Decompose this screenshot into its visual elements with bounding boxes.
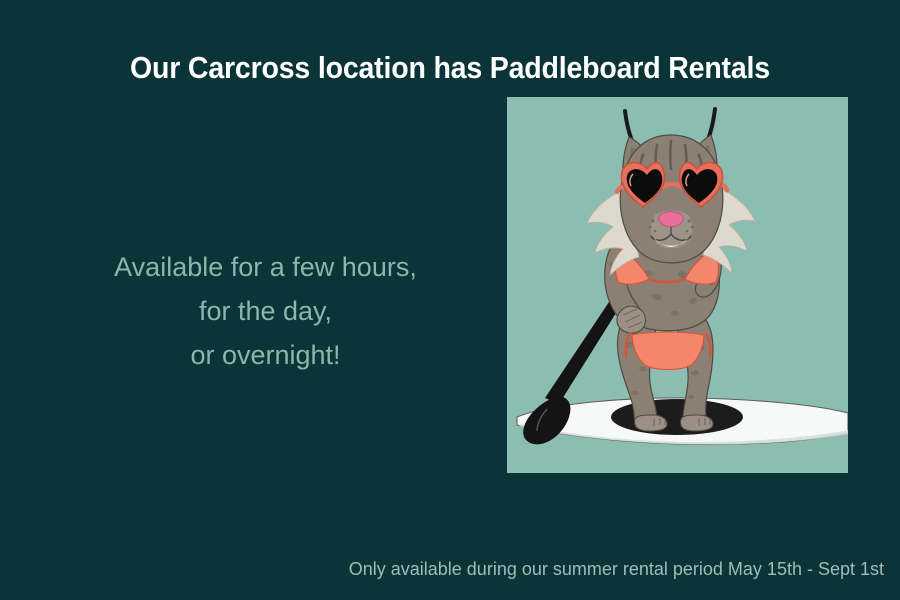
body-line-1: Available for a few hours, [38,245,493,289]
page-title: Our Carcross location has Paddleboard Re… [36,48,864,88]
availability-note: Only available during our summer rental … [0,557,884,581]
promo-slide: Our Carcross location has Paddleboard Re… [0,0,900,600]
nose [659,212,683,227]
traction-pad [611,399,743,435]
body-line-2: for the day, [38,289,493,333]
body-copy: Available for a few hours, for the day, … [38,245,493,377]
lynx-paddleboarding-svg [507,97,848,473]
lynx-paddleboarding-illustration [507,97,848,473]
body-line-3: or overnight! [38,333,493,377]
